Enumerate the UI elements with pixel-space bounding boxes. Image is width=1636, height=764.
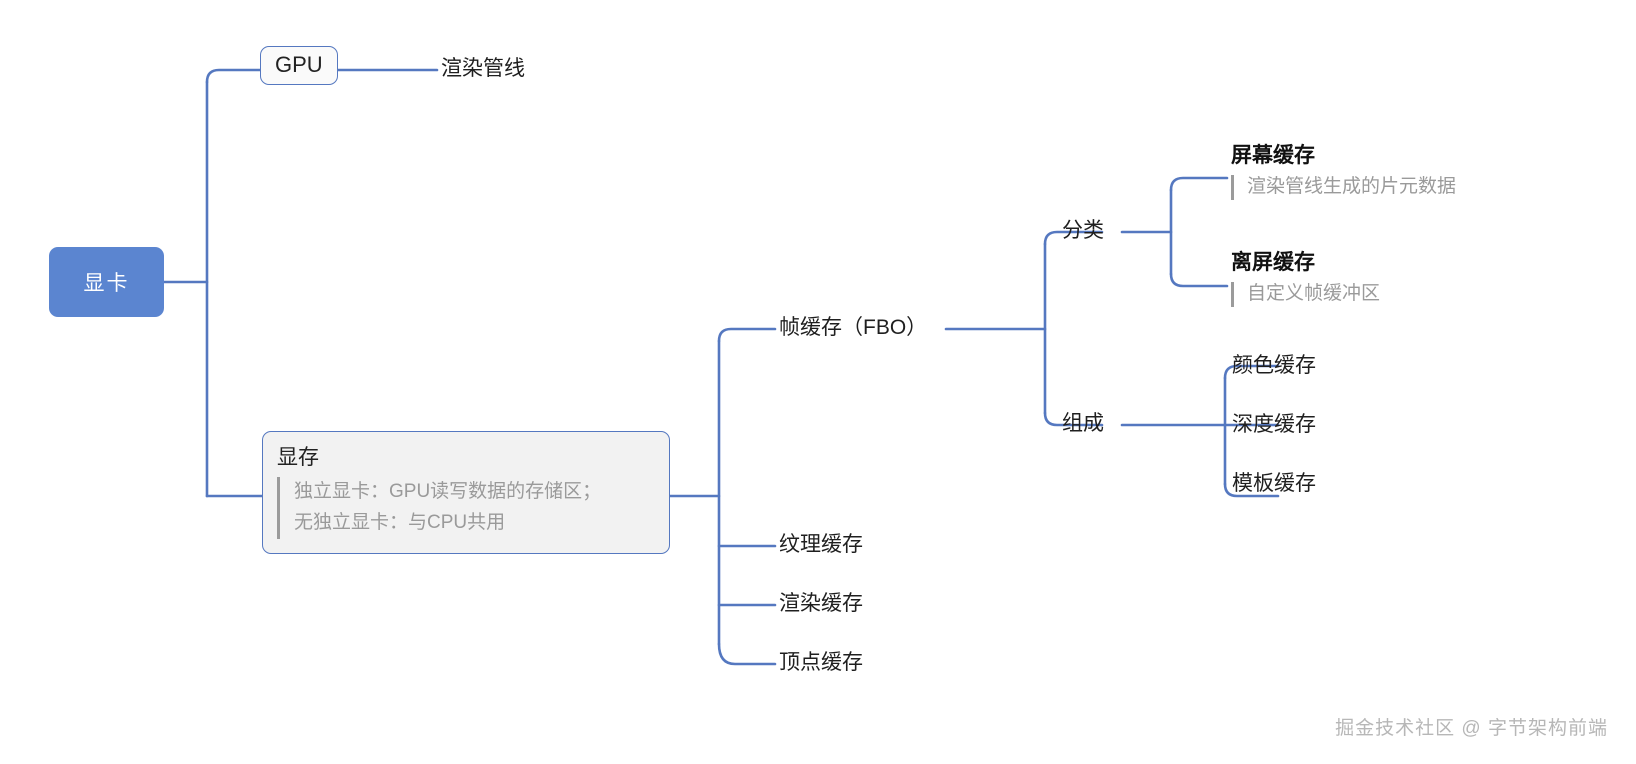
node-offscreen-buffer-label: 离屏缓存 [1231, 250, 1380, 275]
node-stencil-buffer-label: 模板缓存 [1232, 472, 1316, 495]
node-vertex-buffer[interactable]: 顶点缓存 [779, 650, 863, 675]
node-render-pipeline[interactable]: 渲染管线 [441, 56, 525, 81]
node-vram[interactable]: 显存 独立显卡：GPU读写数据的存储区； 无独立显卡：与CPU共用 [262, 431, 670, 554]
node-composition[interactable]: 组成 [1062, 411, 1104, 436]
node-offscreen-buffer[interactable]: 离屏缓存 自定义帧缓冲区 [1231, 250, 1380, 307]
node-depth-buffer[interactable]: 深度缓存 [1232, 412, 1316, 437]
node-screen-buffer-label: 屏幕缓存 [1231, 143, 1456, 168]
node-gpu[interactable]: GPU [260, 46, 338, 85]
watermark: 掘金技术社区 @ 字节架构前端 [1335, 713, 1608, 740]
node-texture-buffer-label: 纹理缓存 [779, 533, 863, 556]
node-gpu-label: GPU [275, 52, 323, 77]
node-screen-buffer-note: 渲染管线生成的片元数据 [1231, 175, 1456, 200]
node-frame-buffer[interactable]: 帧缓存（FBO） [779, 315, 927, 340]
node-render-pipeline-label: 渲染管线 [441, 57, 525, 80]
node-root-graphics-card[interactable]: 显卡 [49, 247, 164, 317]
edge-vram-to-vertex [719, 644, 775, 664]
node-vram-note-line-2: 无独立显卡：与CPU共用 [294, 508, 655, 539]
node-classification-label: 分类 [1062, 219, 1104, 242]
node-render-buffer-label: 渲染缓存 [779, 592, 863, 615]
node-screen-buffer[interactable]: 屏幕缓存 渲染管线生成的片元数据 [1231, 143, 1456, 200]
node-root-label: 显卡 [84, 267, 130, 297]
edge-classify-to-offscreen [1171, 274, 1227, 286]
node-texture-buffer[interactable]: 纹理缓存 [779, 532, 863, 557]
mindmap-canvas: 显卡 GPU 渲染管线 显存 独立显卡：GPU读写数据的存储区； 无独立显卡：与… [0, 0, 1636, 764]
node-stencil-buffer[interactable]: 模板缓存 [1232, 471, 1316, 496]
node-depth-buffer-label: 深度缓存 [1232, 413, 1316, 436]
edge-vram-to-fbo [719, 329, 775, 341]
edge-spine-to-gpu [207, 70, 260, 82]
edge-classify-to-screen [1171, 178, 1227, 190]
node-vram-note: 独立显卡：GPU读写数据的存储区； 无独立显卡：与CPU共用 [277, 477, 655, 539]
node-color-buffer-label: 颜色缓存 [1232, 354, 1316, 377]
node-offscreen-buffer-note: 自定义帧缓冲区 [1231, 282, 1380, 307]
node-composition-label: 组成 [1062, 412, 1104, 435]
node-vertex-buffer-label: 顶点缓存 [779, 651, 863, 674]
node-render-buffer[interactable]: 渲染缓存 [779, 591, 863, 616]
node-color-buffer[interactable]: 颜色缓存 [1232, 353, 1316, 378]
node-vram-note-line-1: 独立显卡：GPU读写数据的存储区； [294, 477, 655, 508]
node-frame-buffer-label: 帧缓存（FBO） [779, 316, 927, 339]
node-classification[interactable]: 分类 [1062, 218, 1104, 243]
node-vram-title: 显存 [277, 444, 655, 471]
